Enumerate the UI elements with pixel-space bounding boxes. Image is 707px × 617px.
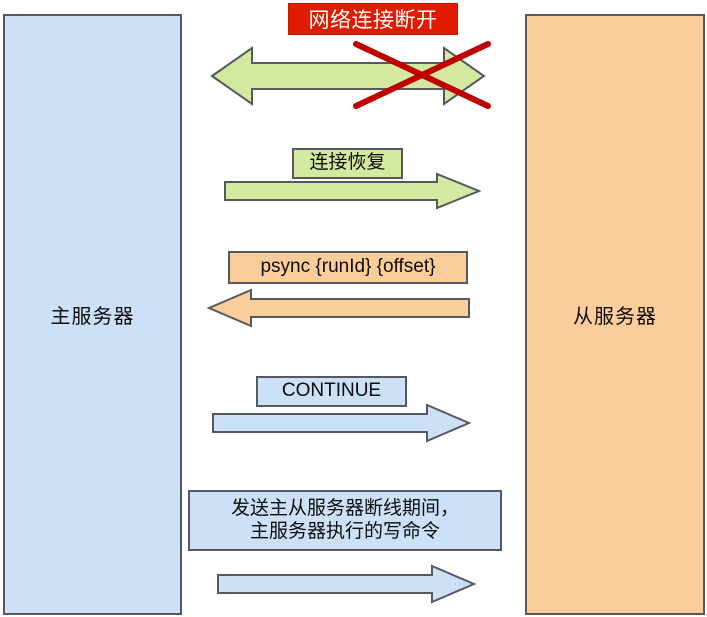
master-server-label: 主服务器 [51,300,135,329]
continue-response-text: CONTINUE [282,380,381,402]
slave-server-label: 从服务器 [573,300,657,329]
slave-server-node: 从服务器 [525,14,705,615]
backlog-commands-label: 发送主从服务器断线期间， 主服务器执行的写命令 [188,490,502,551]
backlog-commands-arrow [216,564,476,604]
network-disconnected-label: 网络连接断开 [309,4,438,34]
backlog-commands-line2: 主服务器执行的写命令 [250,521,440,543]
connection-broken-cross-icon [352,40,492,110]
master-server-node: 主服务器 [3,14,182,615]
psync-command-label: psync {runId} {offset} [228,251,468,284]
psync-request-arrow [207,288,471,328]
backlog-commands-line1: 发送主从服务器断线期间， [231,498,459,520]
network-disconnected-banner: 网络连接断开 [288,3,458,35]
continue-response-arrow [211,403,471,443]
psync-command-text: psync {runId} {offset} [260,256,435,278]
diagram-canvas: 主服务器 从服务器 网络连接断开 连接恢复 psync {runId} {off… [0,0,707,617]
reconnect-arrow [223,172,481,210]
